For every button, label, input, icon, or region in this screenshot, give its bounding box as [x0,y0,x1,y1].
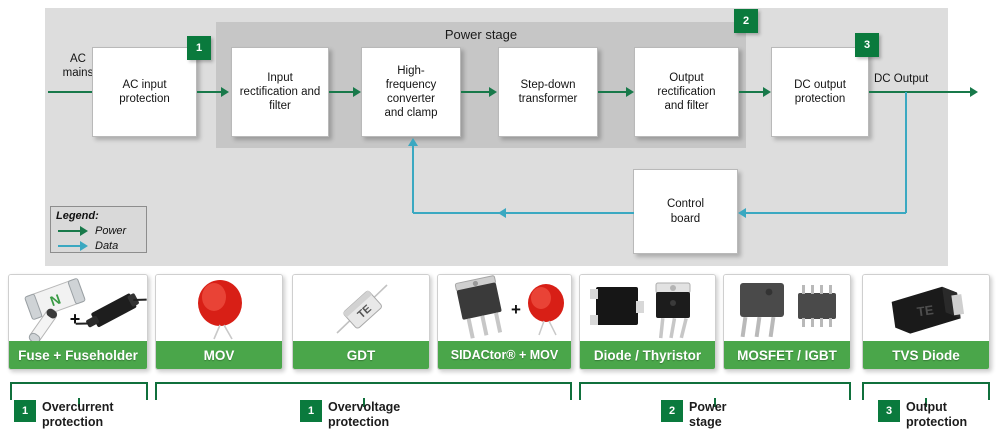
badge-2: 2 [734,9,758,33]
card-mov[interactable]: MOV [155,274,283,370]
bracket-power-stage [579,384,851,400]
card-tvs-diode[interactable]: TE TVS Diode [862,274,990,370]
data-arrow-icon [56,241,90,251]
card-label: Diode / Thyristor [580,341,715,369]
svg-text:TE: TE [916,302,935,319]
legend-box: Legend: Power Data [50,206,147,253]
card-art [580,275,715,343]
card-art: TE [863,275,989,343]
card-art: + [438,275,571,343]
power-arrow-3 [489,87,497,97]
data-arrow-left-mid [498,208,506,218]
mov-icon [156,275,283,343]
bracket-output-protection [862,384,990,400]
card-art: TE [293,275,429,343]
power-line-out [869,91,972,93]
node-label: Inputrectification andfilter [240,71,321,113]
legend-title: Legend: [56,210,141,222]
power-arrow-out [970,87,978,97]
power-line-1 [197,91,223,93]
badge-1: 1 [187,36,211,60]
power-stage-title: Power stage [216,27,746,42]
card-art [156,275,282,343]
fuse-fuseholder-icon: N + [9,275,148,343]
gdt-icon: TE [293,275,430,343]
data-line-control-vert [412,146,414,213]
data-line-output-horiz [746,212,906,214]
legend-label: Power [95,225,126,237]
power-line-in [48,91,98,93]
node-label: High-frequencyconverterand clamp [384,64,437,120]
group-label: Output protection [906,400,967,430]
legend-item-data: Data [56,239,141,252]
card-label: Fuse + Fuseholder [9,341,147,369]
power-arrow-4 [626,87,634,97]
power-line-3 [461,91,491,93]
power-arrow-5 [763,87,771,97]
card-label: SIDACtor® + MOV [438,341,571,369]
caption-power-stage: 2 Power stage [661,400,727,430]
card-diode-thyristor[interactable]: Diode / Thyristor [579,274,716,370]
node-output-rectification[interactable]: Output rectificationand filter [634,47,739,137]
diagram-root: Power stage AC mains AC inputprotection … [0,0,999,438]
node-control-board[interactable]: Controlboard [633,169,738,254]
node-label: DC outputprotection [794,78,846,106]
card-label: TVS Diode [863,341,989,369]
group-label: Power stage [689,400,727,430]
card-sidactor-mov[interactable]: + SIDACtor® + MOV [437,274,572,370]
card-label: MOV [156,341,282,369]
badge-3: 3 [855,33,879,57]
node-input-rectification[interactable]: Inputrectification andfilter [231,47,329,137]
group-badge: 2 [661,400,683,422]
group-badge: 1 [14,400,36,422]
diode-thyristor-icon [580,275,716,343]
node-dc-output-protection[interactable]: DC outputprotection [771,47,869,137]
sidactor-mov-icon: + [438,275,572,343]
power-arrow-icon [56,226,90,236]
power-arrow-2 [353,87,361,97]
card-label: GDT [293,341,429,369]
group-label: Overcurrent protection [42,400,114,430]
legend-label: Data [95,240,118,252]
data-line-control-horiz [413,212,634,214]
node-label: Output rectificationand filter [640,71,733,113]
power-arrow-1 [221,87,229,97]
card-art [724,275,850,343]
bracket-overvoltage [155,384,572,400]
power-line-4 [598,91,628,93]
caption-output-protection: 3 Output protection [878,400,967,430]
node-label: Step-downtransformer [519,78,578,106]
node-step-down-transformer[interactable]: Step-downtransformer [498,47,598,137]
card-art: N + [9,275,147,343]
data-arrow-to-converter [408,138,418,146]
group-badge: 1 [300,400,322,422]
bracket-overcurrent [10,384,148,400]
dc-output-label: DC Output [874,73,954,87]
tvs-diode-icon: TE [863,275,990,343]
plus-symbol: + [70,309,81,329]
caption-overvoltage-protection: 1 Overvoltage protection [300,400,400,430]
card-label: MOSFET / IGBT [724,341,850,369]
node-hf-converter[interactable]: High-frequencyconverterand clamp [361,47,461,137]
power-line-5 [739,91,765,93]
data-arrow-to-control-right [738,208,746,218]
group-label: Overvoltage protection [328,400,400,430]
card-fuse-fuseholder[interactable]: N + Fuse + Fuseholder [8,274,148,370]
node-label: Controlboard [667,197,704,225]
power-line-2 [329,91,355,93]
group-badge: 3 [878,400,900,422]
card-gdt[interactable]: TE GDT [292,274,430,370]
node-ac-input-protection[interactable]: AC inputprotection [92,47,197,137]
card-mosfet-igbt[interactable]: MOSFET / IGBT [723,274,851,370]
plus-symbol: + [511,300,521,319]
mosfet-igbt-icon [724,275,851,343]
node-label: AC inputprotection [119,78,170,106]
caption-overcurrent-protection: 1 Overcurrent protection [14,400,114,430]
data-line-output-vert [905,92,907,213]
legend-item-power: Power [56,224,141,237]
